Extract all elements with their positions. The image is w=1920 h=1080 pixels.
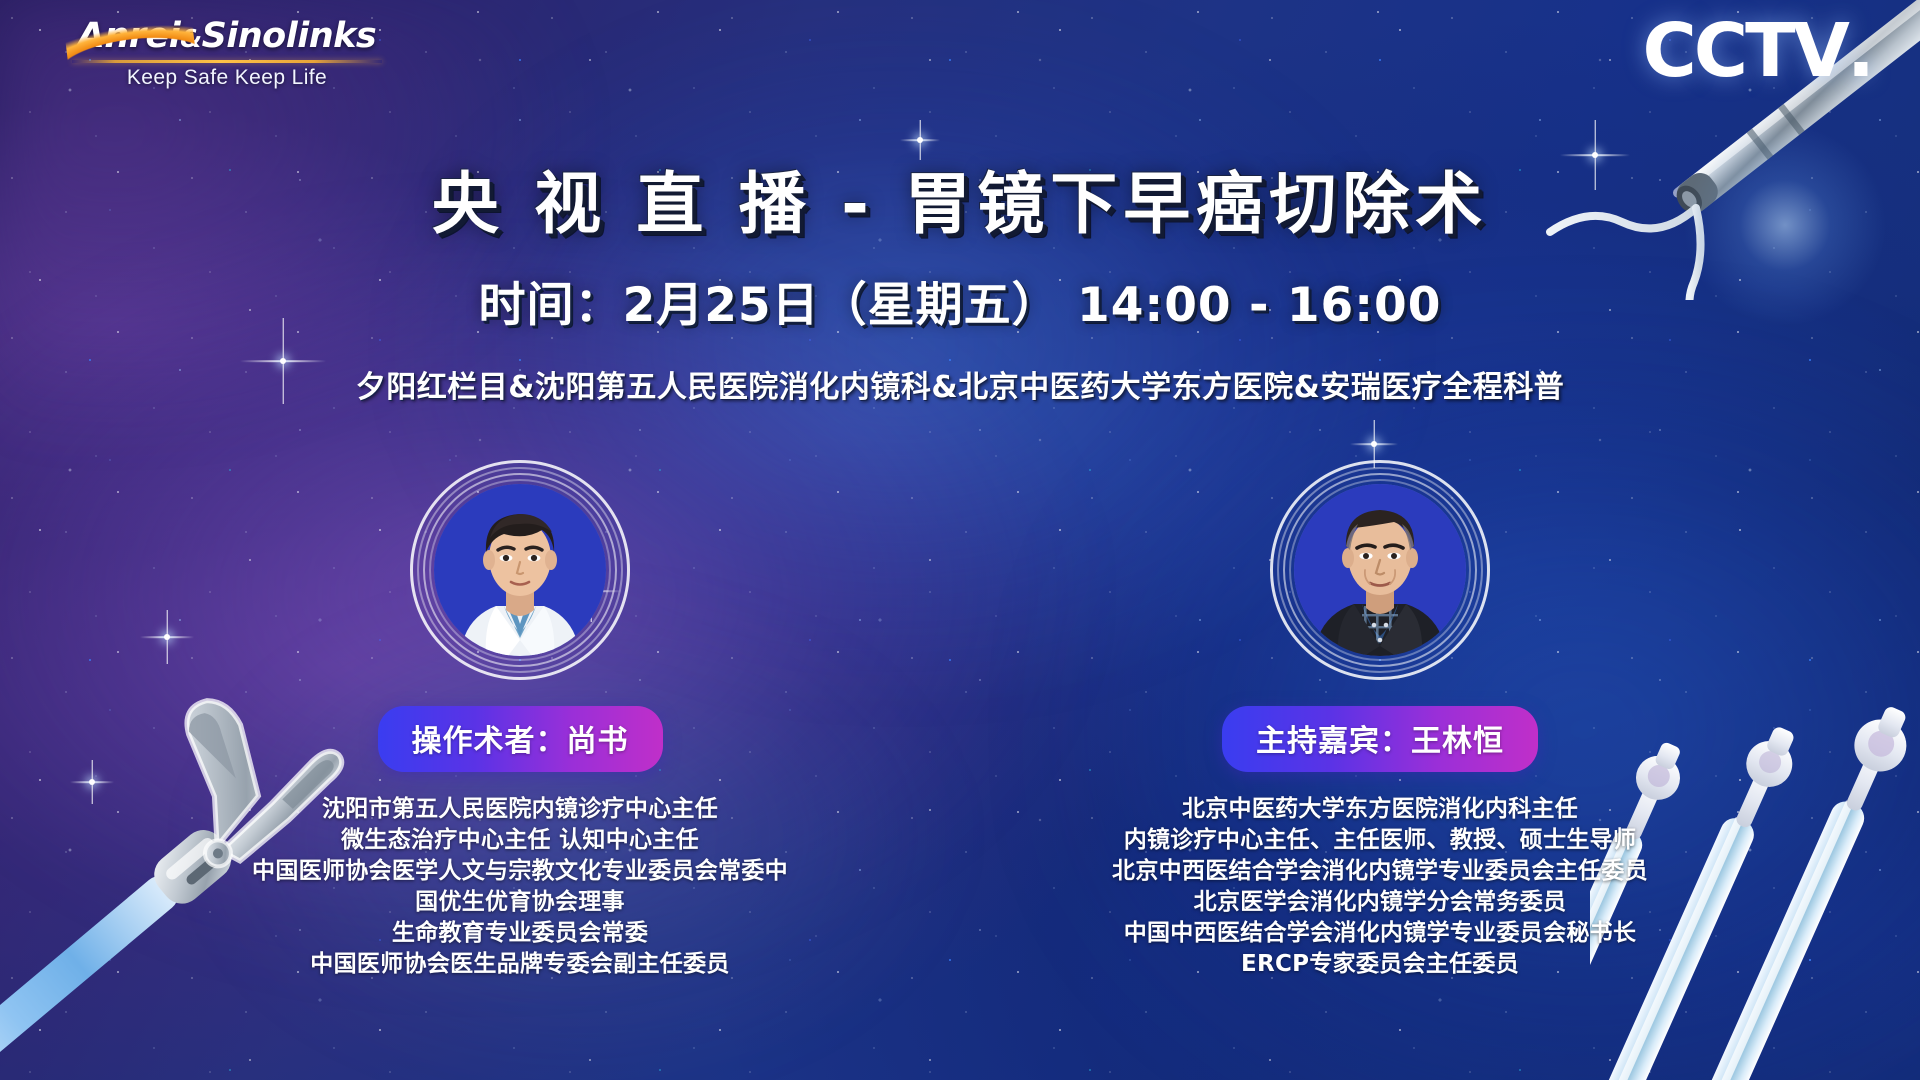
logo-tagline: Keep Safe Keep Life bbox=[62, 66, 392, 90]
partners-line: 夕阳红栏目&沈阳第五人民医院消化内镜科&北京中医药大学东方医院&安瑞医疗全程科普 bbox=[0, 362, 1920, 406]
person-card-host: 主持嘉宾：王林恒 北京中医药大学东方医院消化内科主任 内镜诊疗中心主任、主任医师… bbox=[1100, 460, 1660, 980]
live-stream-poster: Anrei&Sinolinks Keep Safe Keep Life CCTV… bbox=[0, 0, 1920, 1080]
bio-list-host: 北京中医药大学东方医院消化内科主任 内镜诊疗中心主任、主任医师、教授、硕士生导师… bbox=[1100, 794, 1660, 980]
portrait-illustration bbox=[1294, 484, 1466, 656]
cctv-letters: CCTV bbox=[1643, 8, 1847, 94]
sparkle-star bbox=[70, 760, 114, 804]
portrait-illustration bbox=[434, 484, 606, 656]
cctv-logo: CCTV. bbox=[1643, 14, 1876, 88]
event-time-line: 时间：2月25日（星期五） 14:00 - 16:00 bbox=[0, 266, 1920, 335]
bio-line: 国优生优育协会理事 bbox=[240, 887, 800, 918]
avatar bbox=[1270, 460, 1490, 680]
logo-ampersand: & bbox=[180, 24, 201, 53]
bio-line: 生命教育专业委员会常委 bbox=[240, 918, 800, 949]
sparkle-star bbox=[140, 610, 194, 664]
bio-line: 中国医师协会医生品牌专委会副主任委员 bbox=[240, 949, 800, 980]
role-badge-operator: 操作术者：尚书 bbox=[378, 706, 663, 772]
bio-line: 北京中医药大学东方医院消化内科主任 bbox=[1100, 794, 1660, 825]
bio-line: 微生态治疗中心主任 认知中心主任 bbox=[240, 825, 800, 856]
avatar-photo-operator bbox=[434, 484, 606, 656]
bio-line: 北京中西医结合学会消化内镜学专业委员会主任委员 bbox=[1100, 856, 1660, 887]
bio-line: 中国医师协会医学人文与宗教文化专业委员会常委中 bbox=[240, 856, 800, 887]
page-title: 央 视 直 播 - 胃镜下早癌切除术 bbox=[0, 150, 1920, 247]
logo-word-sinolinks: Sinolinks bbox=[202, 16, 377, 56]
anrei-sinolinks-logo: Anrei&Sinolinks Keep Safe Keep Life bbox=[62, 16, 392, 90]
logo-word-anrei: Anrei bbox=[78, 16, 181, 56]
logo-divider-rule bbox=[72, 60, 382, 63]
bio-line: 北京医学会消化内镜学分会常务委员 bbox=[1100, 887, 1660, 918]
avatar bbox=[410, 460, 630, 680]
bio-line: 沈阳市第五人民医院内镜诊疗中心主任 bbox=[240, 794, 800, 825]
avatar-photo-host bbox=[1294, 484, 1466, 656]
bio-line: ERCP专家委员会主任委员 bbox=[1100, 949, 1660, 980]
role-badge-host: 主持嘉宾：王林恒 bbox=[1222, 706, 1538, 772]
bio-line: 内镜诊疗中心主任、主任医师、教授、硕士生导师 bbox=[1100, 825, 1660, 856]
cctv-dot: . bbox=[1847, 8, 1875, 94]
logo-wordmark: Anrei&Sinolinks bbox=[62, 16, 392, 56]
bio-list-operator: 沈阳市第五人民医院内镜诊疗中心主任 微生态治疗中心主任 认知中心主任 中国医师协… bbox=[240, 794, 800, 980]
person-card-operator: 操作术者：尚书 沈阳市第五人民医院内镜诊疗中心主任 微生态治疗中心主任 认知中心… bbox=[240, 460, 800, 980]
bio-line: 中国中西医结合学会消化内镜学专业委员会秘书长 bbox=[1100, 918, 1660, 949]
